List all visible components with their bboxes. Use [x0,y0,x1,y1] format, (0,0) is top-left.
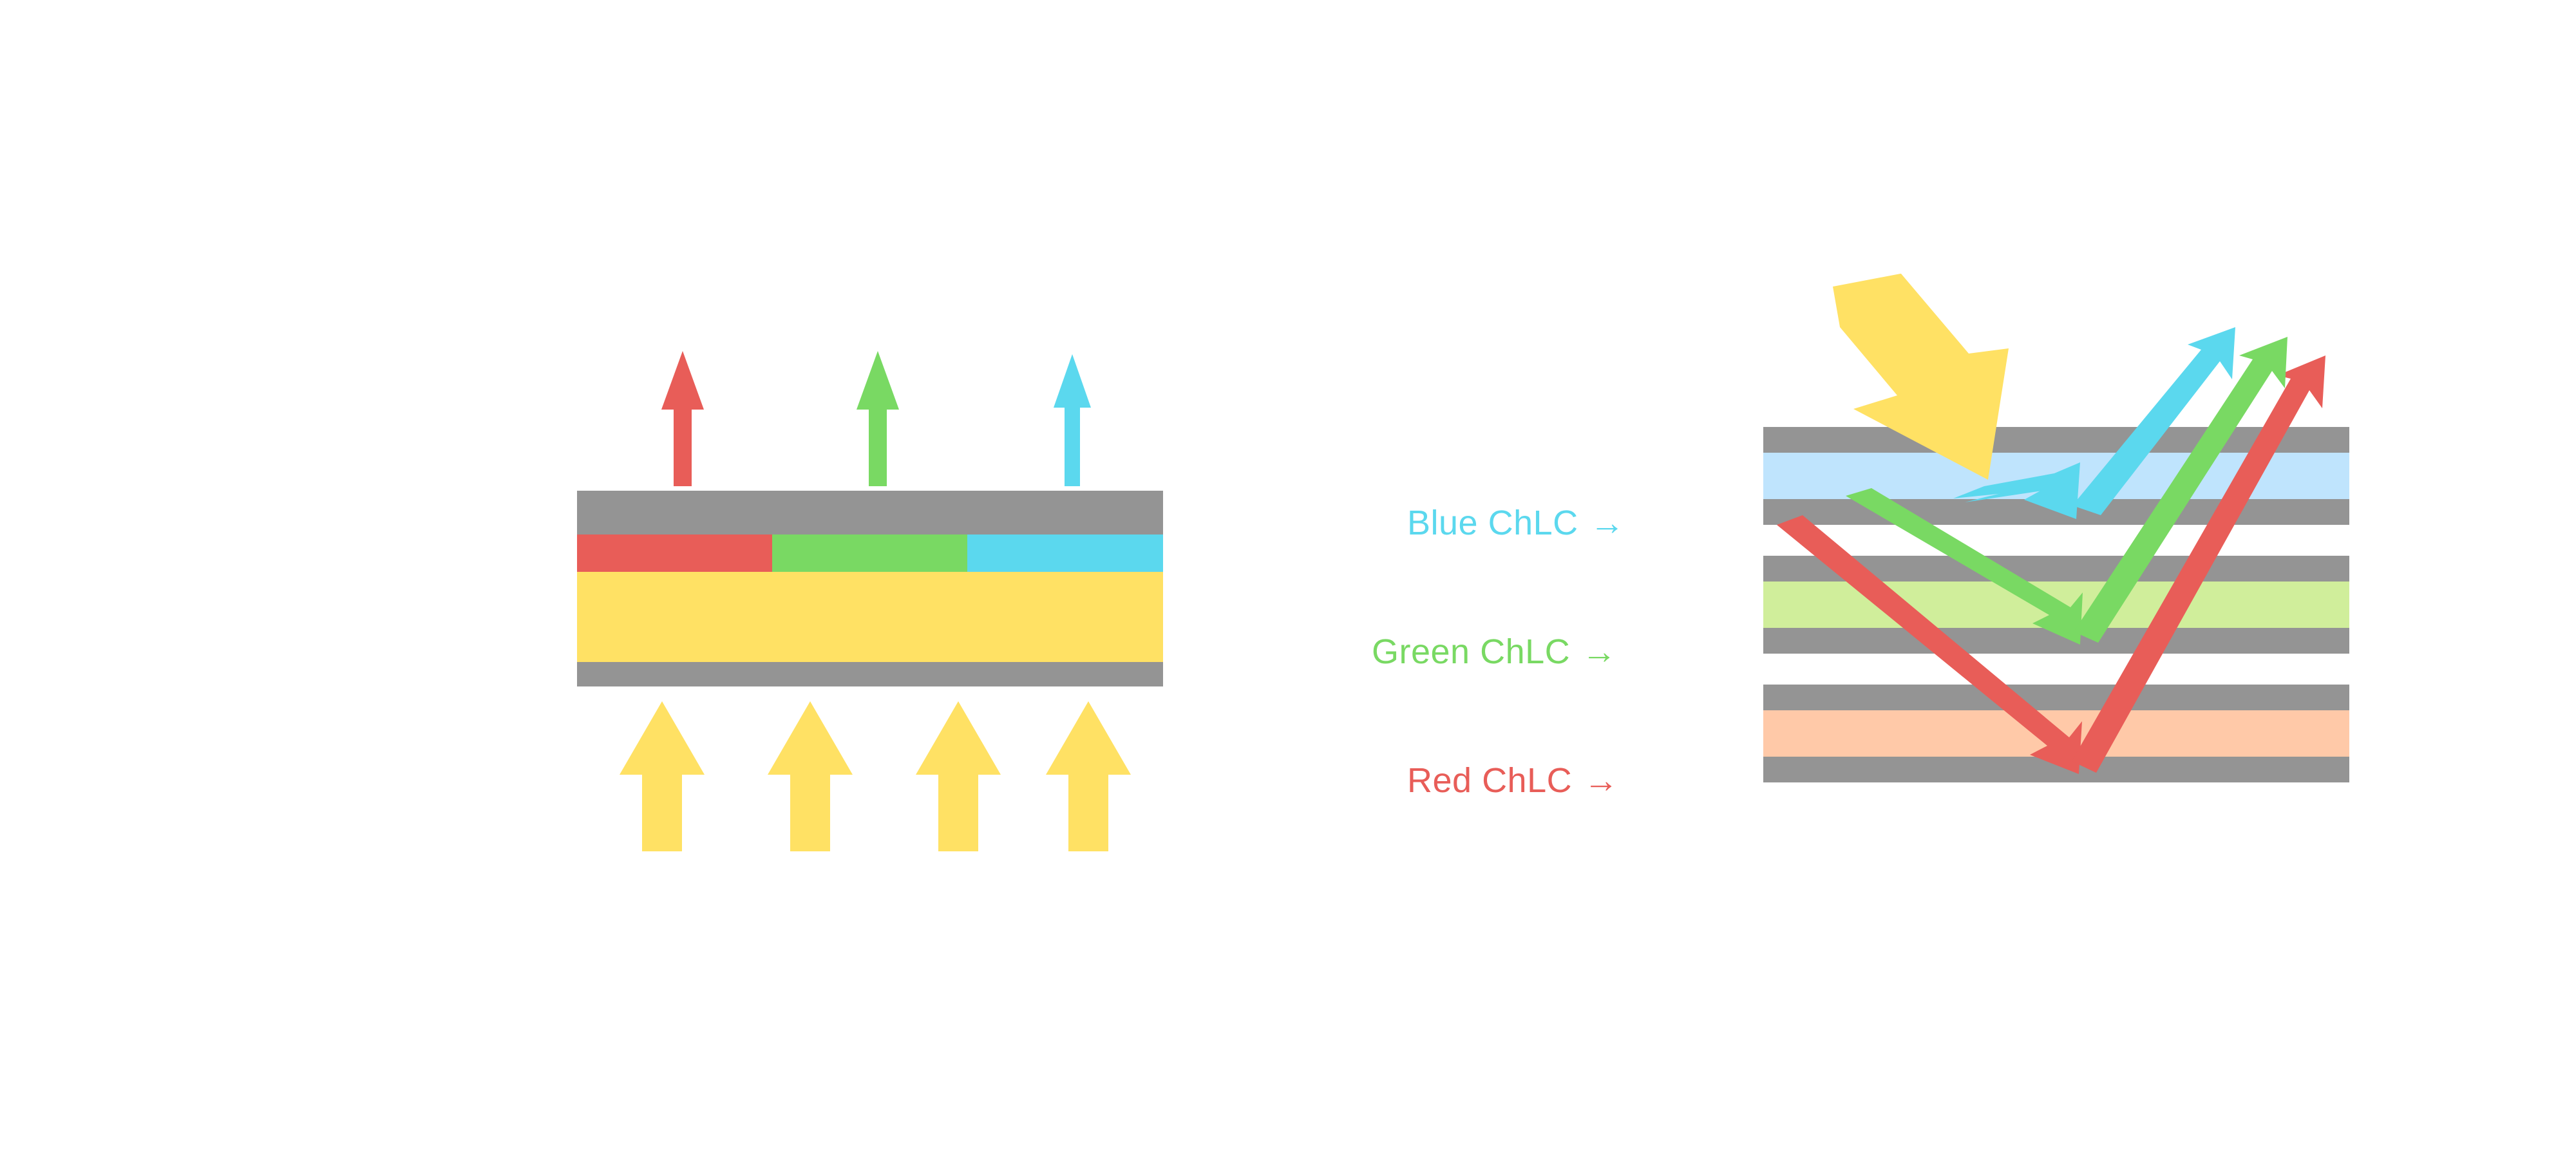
green-chlc-label-arrow-icon: → [1570,632,1617,671]
bottom-substrate [577,662,1163,686]
red-chlc-label-text: Red ChLC [1407,761,1572,800]
blue-chlc-label-text: Blue ChLC [1407,504,1578,542]
backlight-arrow-3 [916,701,1001,851]
red-filter [577,534,772,572]
green-filter [772,534,967,572]
emitted-green-arrow [857,351,899,486]
emitted-blue-arrow [1054,354,1091,486]
emitted-red-arrow [661,351,704,486]
backlight-layer [577,572,1163,662]
incident-blue-ray-head [1953,462,2080,519]
blue-chlc-label: Blue ChLC→ [1407,506,1625,540]
backlight-arrow-1 [620,701,705,851]
diagram-canvas: Blue ChLC→ Green ChLC→ Red ChLC→ [0,0,2576,1154]
red-chlc-label-arrow-icon: → [1572,761,1619,800]
blue-chlc-label-arrow-icon: → [1578,504,1625,542]
blue-filter [967,534,1163,572]
top-substrate [577,491,1163,534]
backlight-arrow-4 [1046,701,1131,851]
green-chlc-label-text: Green ChLC [1372,632,1570,671]
backlight-arrow-2 [768,701,853,851]
left-transmissive-panel [0,0,1352,1154]
blue-ray-overlay [1352,0,2576,1154]
red-chlc-label: Red ChLC→ [1407,763,1619,798]
green-chlc-label: Green ChLC→ [1372,634,1617,669]
